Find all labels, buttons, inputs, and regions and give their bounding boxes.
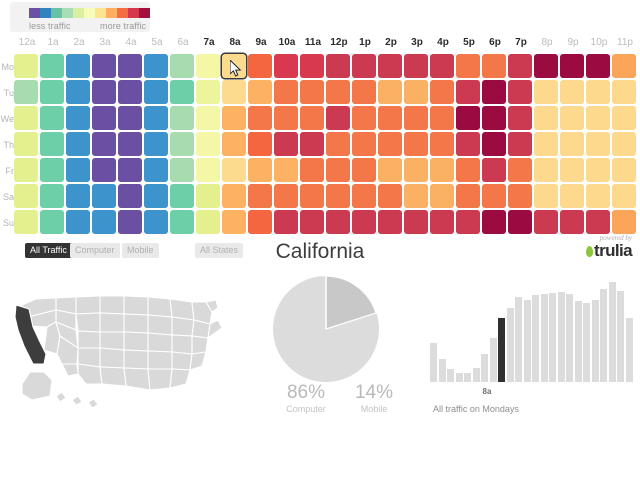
heatmap-cell-Su-5p[interactable] [456, 210, 480, 234]
heatmap-cell-Th-12a[interactable] [14, 132, 38, 156]
heatmap-cell-Sa-8p[interactable] [534, 184, 558, 208]
hour-label-2p: 2p [378, 36, 404, 50]
heatmap-cell-Fr-6p[interactable] [482, 158, 506, 182]
heatmap-cell-Th-12p[interactable] [326, 132, 350, 156]
heatmap-cell-Mo-8p[interactable] [534, 54, 558, 78]
heatmap-cell-Th-2p[interactable] [378, 132, 402, 156]
heatmap-cell-Su-12p[interactable] [326, 210, 350, 234]
heatmap-cell-Sa-11a[interactable] [300, 184, 324, 208]
heatmap-cell-Sa-4a[interactable] [118, 184, 142, 208]
us-map-svg[interactable] [0, 272, 232, 412]
heatmap-cell-Fr-5a[interactable] [144, 158, 168, 182]
heatmap-cell-Sa-3p[interactable] [404, 184, 428, 208]
heatmap-cell-We-3a[interactable] [92, 106, 116, 130]
hour-label-3p: 3p [404, 36, 430, 50]
pie-computer-label: Computer [271, 404, 341, 415]
heatmap-cell-We-9a[interactable] [248, 106, 272, 130]
heatmap-cell-Mo-4a[interactable] [118, 54, 142, 78]
heatmap-cell-Th-7p[interactable] [508, 132, 532, 156]
heatmap-cell-Th-3a[interactable] [92, 132, 116, 156]
heatmap-cell-Sa-6a[interactable] [170, 184, 194, 208]
hour-label-12a: 12a [14, 36, 40, 50]
bar-7p[interactable] [592, 300, 599, 382]
heatmap-cell-Th-6a[interactable] [170, 132, 194, 156]
hour-label-8p: 8p [534, 36, 560, 50]
heatmap-cell-Mo-6p[interactable] [482, 54, 506, 78]
heatmap-cell-We-9p[interactable] [560, 106, 584, 130]
heatmap-cell-Tu-7a[interactable] [196, 80, 220, 104]
day-label-Mo: Mo [0, 62, 14, 72]
legend-more-label: more traffic [100, 21, 146, 31]
day-label-Th: Th [0, 140, 14, 150]
bar-2p[interactable] [549, 293, 556, 382]
pie-chart-svg [272, 275, 380, 383]
heatmap-cell-Sa-7a[interactable] [196, 184, 220, 208]
hour-label-4p: 4p [430, 36, 456, 50]
pie-stat-mobile: 14% Mobile [339, 382, 409, 415]
heatmap-cell-Mo-7a[interactable] [196, 54, 220, 78]
heatmap-cell-Fr-7p[interactable] [508, 158, 532, 182]
bar-1p[interactable] [541, 294, 548, 382]
heatmap-cell-Sa-12p[interactable] [326, 184, 350, 208]
heatmap-cell-Fr-9p[interactable] [560, 158, 584, 182]
bar-chart-caption: All traffic on Mondays [433, 404, 519, 414]
heatmap-cell-Tu-8p[interactable] [534, 80, 558, 104]
pie-computer-percent: 86% [271, 382, 341, 404]
day-label-Su: Su [0, 218, 14, 228]
heatmap-cell-Sa-6p[interactable] [482, 184, 506, 208]
heatmap-cell-Th-10p[interactable] [586, 132, 610, 156]
bar-6p[interactable] [583, 303, 590, 382]
heatmap-cell-We-7p[interactable] [508, 106, 532, 130]
heatmap-cell-Tu-4p[interactable] [430, 80, 454, 104]
heatmap-cell-Fr-3p[interactable] [404, 158, 428, 182]
heatmap-cell-Sa-12a[interactable] [14, 184, 38, 208]
hour-label-11a: 11a [300, 36, 326, 50]
hour-label-8a: 8a [222, 36, 248, 50]
heatmap-cell-Tu-3p[interactable] [404, 80, 428, 104]
heatmap-cell-Tu-2p[interactable] [378, 80, 402, 104]
map-states-base [22, 296, 222, 408]
bar-12a[interactable] [430, 343, 437, 382]
bar-11p[interactable] [626, 318, 633, 382]
legend-panel: less traffic more traffic [10, 2, 150, 32]
heatmap-cell-Tu-5p[interactable] [456, 80, 480, 104]
heatmap-cell-Th-7a[interactable] [196, 132, 220, 156]
heatmap-cell-Mo-4p[interactable] [430, 54, 454, 78]
bar-highlight-tick-label: 8a [477, 387, 497, 396]
bar-8p[interactable] [600, 289, 607, 382]
heatmap-cell-Su-11a[interactable] [300, 210, 324, 234]
heatmap-cell-Su-1p[interactable] [352, 210, 376, 234]
heatmap-cell-Sa-2a[interactable] [66, 184, 90, 208]
heatmap-cell-Fr-1p[interactable] [352, 158, 376, 182]
heatmap-cell-Th-9a[interactable] [248, 132, 272, 156]
day-label-Sa: Sa [0, 192, 14, 202]
heatmap-cell-Su-11p[interactable] [612, 210, 636, 234]
heatmap-cell-We-4a[interactable] [118, 106, 142, 130]
heatmap-cell-Th-4a[interactable] [118, 132, 142, 156]
day-label-Tu: Tu [0, 88, 14, 98]
heatmap-cell-We-1p[interactable] [352, 106, 376, 130]
hour-label-1p: 1p [352, 36, 378, 50]
heatmap-cell-Th-10a[interactable] [274, 132, 298, 156]
heatmap-cell-Mo-2p[interactable] [378, 54, 402, 78]
heatmap-cell-Mo-3a[interactable] [92, 54, 116, 78]
heatmap-day-axis: MoTuWeThFrSaSu [0, 54, 14, 240]
bar-4a[interactable] [464, 373, 471, 382]
heatmap-hour-axis: 12a1a2a3a4a5a6a7a8a9a10a11a12p1p2p3p4p5p… [14, 36, 640, 52]
heatmap-cell-Mo-3p[interactable] [404, 54, 428, 78]
hourly-bar-panel: 8a All traffic on Mondays [425, 278, 640, 418]
heatmap-cell-Sa-9p[interactable] [560, 184, 584, 208]
heatmap-cell-Sa-11p[interactable] [612, 184, 636, 208]
heatmap-cell-We-4p[interactable] [430, 106, 454, 130]
heatmap-cell-Fr-1a[interactable] [40, 158, 64, 182]
heatmap-cell-Su-12a[interactable] [14, 210, 38, 234]
heatmap-cell-Sa-1a[interactable] [40, 184, 64, 208]
legend-swatch-7 [106, 8, 117, 18]
hour-label-5p: 5p [456, 36, 482, 50]
heatmap-cell-Th-1a[interactable] [40, 132, 64, 156]
legend-color-scale [29, 8, 150, 18]
bar-2a[interactable] [447, 369, 454, 382]
heatmap-cell-Fr-4p[interactable] [430, 158, 454, 182]
day-label-Fr: Fr [0, 166, 14, 176]
legend-less-label: less traffic [29, 21, 71, 31]
heatmap-cell-Su-6p[interactable] [482, 210, 506, 234]
heatmap-cell-Th-11p[interactable] [612, 132, 636, 156]
heatmap-cell-Fr-10a[interactable] [274, 158, 298, 182]
heatmap-cell-Mo-7p[interactable] [508, 54, 532, 78]
heatmap-cell-Su-2a[interactable] [66, 210, 90, 234]
heatmap-cell-Fr-2a[interactable] [66, 158, 90, 182]
heatmap-cell-Mo-11p[interactable] [612, 54, 636, 78]
heatmap-cell-We-11p[interactable] [612, 106, 636, 130]
heatmap-cell-Su-3p[interactable] [404, 210, 428, 234]
pie-chart [272, 275, 380, 383]
heatmap-cell-Sa-9a[interactable] [248, 184, 272, 208]
hour-label-6p: 6p [482, 36, 508, 50]
heatmap-cell-Tu-11a[interactable] [300, 80, 324, 104]
heatmap-cell-Sa-10p[interactable] [586, 184, 610, 208]
heatmap-cell-Tu-2a[interactable] [66, 80, 90, 104]
hour-label-10a: 10a [274, 36, 300, 50]
heatmap-cell-Mo-11a[interactable] [300, 54, 324, 78]
heatmap-cell-Th-3p[interactable] [404, 132, 428, 156]
heatmap-cell-Su-4p[interactable] [430, 210, 454, 234]
hour-label-10p: 10p [586, 36, 612, 50]
heatmap-cell-Mo-6a[interactable] [170, 54, 194, 78]
bar-10a[interactable] [515, 297, 522, 382]
heatmap-cell-We-12a[interactable] [14, 106, 38, 130]
legend-swatch-10 [139, 8, 150, 18]
device-share-pie-panel: 86% Computer 14% Mobile [255, 272, 425, 417]
heatmap-cell-Sa-5p[interactable] [456, 184, 480, 208]
heatmap-cell-Tu-12p[interactable] [326, 80, 350, 104]
heatmap-cell-Tu-9a[interactable] [248, 80, 272, 104]
bar-8a[interactable] [498, 318, 505, 382]
heatmap-cell-Fr-11p[interactable] [612, 158, 636, 182]
heatmap-cell-Tu-9p[interactable] [560, 80, 584, 104]
heatmap-cell-Sa-4p[interactable] [430, 184, 454, 208]
heatmap-cell-We-8a[interactable] [222, 106, 246, 130]
hour-label-12p: 12p [326, 36, 352, 50]
hour-label-3a: 3a [92, 36, 118, 50]
heatmap-cell-Mo-1a[interactable] [40, 54, 64, 78]
heatmap-cell-Tu-5a[interactable] [144, 80, 168, 104]
heatmap-cell-Su-8p[interactable] [534, 210, 558, 234]
heatmap-cell-Th-4p[interactable] [430, 132, 454, 156]
bar-9p[interactable] [609, 282, 616, 382]
heatmap-cell-Sa-10a[interactable] [274, 184, 298, 208]
heatmap-cell-Mo-9a[interactable] [248, 54, 272, 78]
heatmap-cell-Mo-1p[interactable] [352, 54, 376, 78]
legend-swatch-9 [128, 8, 139, 18]
heatmap-cell-We-3p[interactable] [404, 106, 428, 130]
heatmap-cell-Tu-12a[interactable] [14, 80, 38, 104]
heatmap-cell-Fr-5p[interactable] [456, 158, 480, 182]
bar-6a[interactable] [481, 354, 488, 382]
trulia-logo: trulia [586, 242, 632, 259]
heatmap-cell-Sa-2p[interactable] [378, 184, 402, 208]
heatmap-cell-Mo-9p[interactable] [560, 54, 584, 78]
heatmap-cell-We-1a[interactable] [40, 106, 64, 130]
heatmap-cell-Fr-6a[interactable] [170, 158, 194, 182]
page-title: California [0, 240, 640, 264]
heatmap-cell-Th-8a[interactable] [222, 132, 246, 156]
heatmap-cell-Th-11a[interactable] [300, 132, 324, 156]
heatmap-cell-We-2p[interactable] [378, 106, 402, 130]
heatmap-cell-Tu-3a[interactable] [92, 80, 116, 104]
heatmap-cell-Fr-8a[interactable] [222, 158, 246, 182]
heatmap-cell-Fr-12p[interactable] [326, 158, 350, 182]
heatmap-cell-Mo-10a[interactable] [274, 54, 298, 78]
heatmap-cell-Su-3a[interactable] [92, 210, 116, 234]
heatmap-cell-Su-10a[interactable] [274, 210, 298, 234]
heatmap-cell-Su-10p[interactable] [586, 210, 610, 234]
heatmap-cell-Tu-7p[interactable] [508, 80, 532, 104]
heatmap-cell-Su-7p[interactable] [508, 210, 532, 234]
legend-swatch-5 [84, 8, 95, 18]
heatmap-cell-Tu-1a[interactable] [40, 80, 64, 104]
heatmap-cell-Sa-8a[interactable] [222, 184, 246, 208]
hour-label-1a: 1a [40, 36, 66, 50]
legend-swatch-4 [73, 8, 84, 18]
legend-swatch-6 [95, 8, 106, 18]
bar-12p[interactable] [532, 295, 539, 382]
heatmap-cell-Tu-6a[interactable] [170, 80, 194, 104]
heatmap-cell-We-6p[interactable] [482, 106, 506, 130]
bar-1a[interactable] [439, 359, 446, 382]
heatmap-cell-We-5a[interactable] [144, 106, 168, 130]
heatmap-cell-Mo-8a[interactable] [222, 54, 246, 78]
bar-3p[interactable] [558, 292, 565, 382]
heatmap-cell-Fr-3a[interactable] [92, 158, 116, 182]
heatmap-cell-Sa-5a[interactable] [144, 184, 168, 208]
us-map-panel[interactable] [0, 272, 232, 412]
heatmap-cell-Sa-3a[interactable] [92, 184, 116, 208]
heatmap-cell-Su-9a[interactable] [248, 210, 272, 234]
hour-label-7p: 7p [508, 36, 534, 50]
pie-stat-computer: 86% Computer [271, 382, 341, 415]
heatmap-cell-Mo-12a[interactable] [14, 54, 38, 78]
heatmap-cell-Tu-11p[interactable] [612, 80, 636, 104]
heatmap-cell-We-10p[interactable] [586, 106, 610, 130]
hour-label-2a: 2a [66, 36, 92, 50]
bar-5p[interactable] [575, 301, 582, 382]
hour-label-9p: 9p [560, 36, 586, 50]
heatmap-cell-Su-1a[interactable] [40, 210, 64, 234]
heatmap-cell-We-8p[interactable] [534, 106, 558, 130]
pie-mobile-label: Mobile [339, 404, 409, 415]
heatmap-cell-Mo-12p[interactable] [326, 54, 350, 78]
bar-11a[interactable] [524, 300, 531, 382]
hourly-bar-chart[interactable] [430, 282, 635, 382]
traffic-heatmap: 12a1a2a3a4a5a6a7a8a9a10a11a12p1p2p3p4p5p… [0, 36, 640, 241]
heatmap-cell-Su-2p[interactable] [378, 210, 402, 234]
pie-mobile-percent: 14% [339, 382, 409, 404]
bar-4p[interactable] [566, 294, 573, 382]
hour-label-4a: 4a [118, 36, 144, 50]
heatmap-cell-Sa-1p[interactable] [352, 184, 376, 208]
heatmap-cell-Su-5a[interactable] [144, 210, 168, 234]
heatmap-cell-Th-2a[interactable] [66, 132, 90, 156]
heatmap-cell-Fr-11a[interactable] [300, 158, 324, 182]
heatmap-cell-Tu-1p[interactable] [352, 80, 376, 104]
legend-swatch-1 [40, 8, 51, 18]
heatmap-cell-Mo-5a[interactable] [144, 54, 168, 78]
hour-label-5a: 5a [144, 36, 170, 50]
map-pin-icon [586, 246, 593, 257]
heatmap-cell-Su-8a[interactable] [222, 210, 246, 234]
heatmap-cell-Tu-6p[interactable] [482, 80, 506, 104]
heatmap-cell-Fr-4a[interactable] [118, 158, 142, 182]
heatmap-cell-Su-4a[interactable] [118, 210, 142, 234]
hour-label-9a: 9a [248, 36, 274, 50]
heatmap-cell-Fr-9a[interactable] [248, 158, 272, 182]
heatmap-cell-We-5p[interactable] [456, 106, 480, 130]
heatmap-cell-Th-1p[interactable] [352, 132, 376, 156]
heatmap-cell-Th-5a[interactable] [144, 132, 168, 156]
heatmap-cell-Tu-10p[interactable] [586, 80, 610, 104]
heatmap-cell-Th-8p[interactable] [534, 132, 558, 156]
bar-9a[interactable] [507, 308, 514, 382]
heatmap-cell-Th-5p[interactable] [456, 132, 480, 156]
trulia-branding: powered by trulia [586, 234, 632, 259]
heatmap-cell-Fr-12a[interactable] [14, 158, 38, 182]
heatmap-cell-Fr-8p[interactable] [534, 158, 558, 182]
heatmap-cell-We-6a[interactable] [170, 106, 194, 130]
heatmap-cell-Mo-10p[interactable] [586, 54, 610, 78]
heatmap-cell-We-2a[interactable] [66, 106, 90, 130]
hour-label-11p: 11p [612, 36, 638, 50]
legend-swatch-8 [117, 8, 128, 18]
bar-10p[interactable] [617, 291, 624, 382]
legend-swatch-2 [51, 8, 62, 18]
legend-swatch-3 [62, 8, 73, 18]
hour-label-7a: 7a [196, 36, 222, 50]
heatmap-cell-Tu-8a[interactable] [222, 80, 246, 104]
trulia-wordmark-text: trulia [594, 241, 632, 260]
heatmap-cell-Su-6a[interactable] [170, 210, 194, 234]
heatmap-cell-Su-7a[interactable] [196, 210, 220, 234]
heatmap-cell-Th-6p[interactable] [482, 132, 506, 156]
bar-5a[interactable] [473, 368, 480, 382]
bar-3a[interactable] [456, 373, 463, 382]
heatmap-cell-We-10a[interactable] [274, 106, 298, 130]
heatmap-cell-Mo-2a[interactable] [66, 54, 90, 78]
heatmap-cell-Tu-4a[interactable] [118, 80, 142, 104]
heatmap-cell-Fr-10p[interactable] [586, 158, 610, 182]
heatmap-cell-We-7a[interactable] [196, 106, 220, 130]
heatmap-cell-Fr-2p[interactable] [378, 158, 402, 182]
heatmap-cell-We-11a[interactable] [300, 106, 324, 130]
day-label-We: We [0, 114, 14, 124]
heatmap-cell-Fr-7a[interactable] [196, 158, 220, 182]
heatmap-cell-Tu-10a[interactable] [274, 80, 298, 104]
heatmap-cell-We-12p[interactable] [326, 106, 350, 130]
heatmap-cell-Th-9p[interactable] [560, 132, 584, 156]
bar-7a[interactable] [490, 338, 497, 382]
heatmap-cell-Mo-5p[interactable] [456, 54, 480, 78]
legend-swatch-0 [29, 8, 40, 18]
hour-label-6a: 6a [170, 36, 196, 50]
heatmap-cell-Sa-7p[interactable] [508, 184, 532, 208]
heatmap-cell-Su-9p[interactable] [560, 210, 584, 234]
